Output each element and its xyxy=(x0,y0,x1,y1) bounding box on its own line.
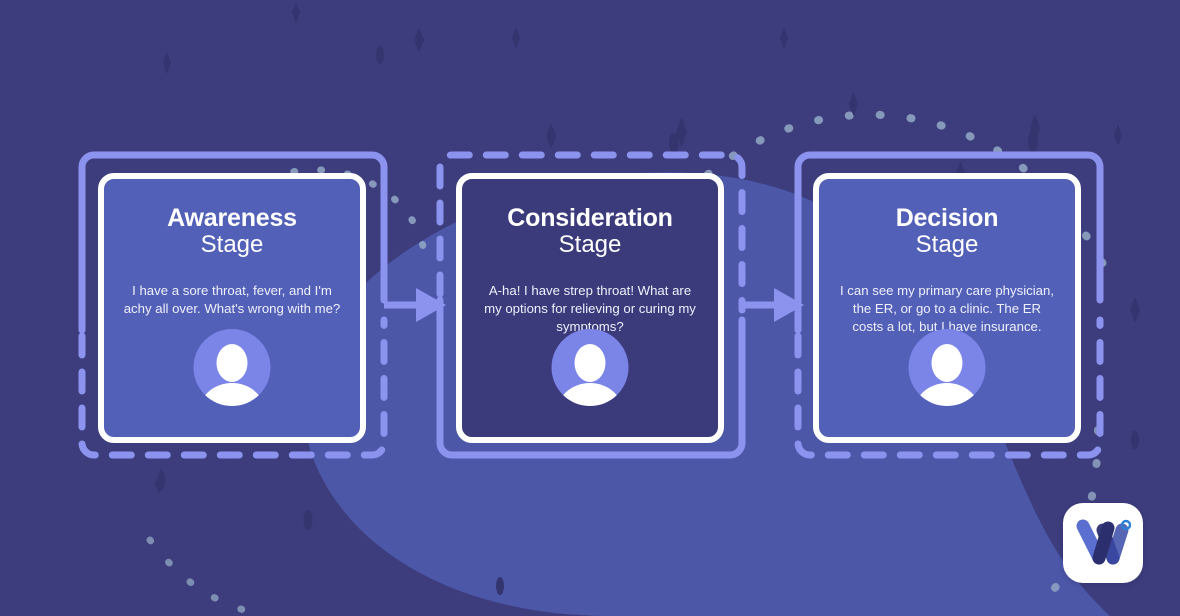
stage-title: Decision xyxy=(896,205,999,231)
stage-card-consideration[interactable]: Consideration Stage A-ha! I have strep t… xyxy=(456,173,724,443)
stage-card-decision[interactable]: Decision Stage I can see my primary care… xyxy=(813,173,1081,443)
stage-title: Consideration xyxy=(507,205,672,231)
stage-card-awareness[interactable]: Awareness Stage I have a sore throat, fe… xyxy=(98,173,366,443)
w-logo-icon xyxy=(1075,518,1131,568)
stage-subtitle: Stage xyxy=(201,232,264,258)
stage-quote: I can see my primary care physician, the… xyxy=(837,282,1057,336)
user-avatar-icon xyxy=(194,329,271,406)
user-avatar-icon xyxy=(552,329,629,406)
stage-title: Awareness xyxy=(167,205,297,231)
stage-quote: I have a sore throat, fever, and I'm ach… xyxy=(122,282,342,318)
stage-subtitle: Stage xyxy=(916,232,979,258)
brand-logo-badge[interactable] xyxy=(1063,503,1143,583)
stage-subtitle: Stage xyxy=(559,232,622,258)
diagram-canvas: Awareness Stage I have a sore throat, fe… xyxy=(0,0,1180,616)
stage-quote: A-ha! I have strep throat! What are my o… xyxy=(480,282,700,336)
user-avatar-icon xyxy=(909,329,986,406)
